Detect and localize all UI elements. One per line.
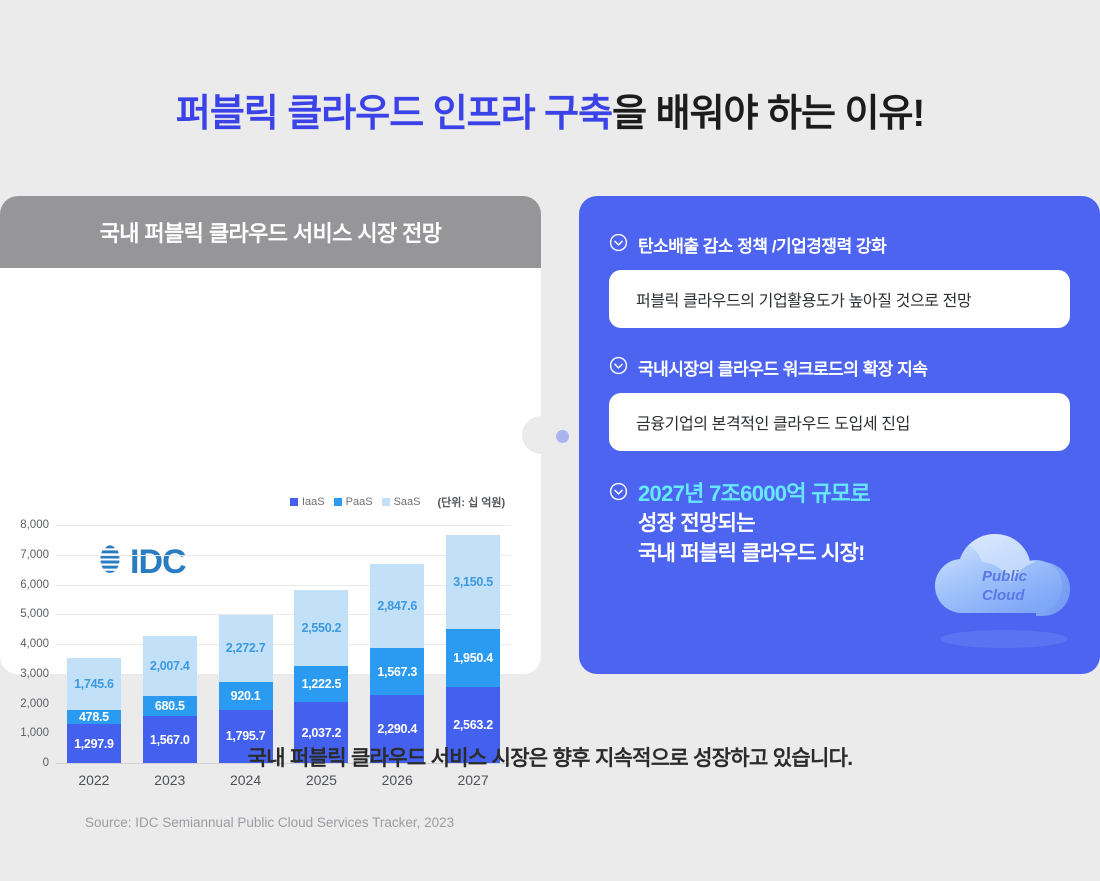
chart-y-tick-label: 4,000 <box>20 638 49 650</box>
highlight-box-1: 퍼블릭 클라우드의 기업활용도가 높아질 것으로 전망 <box>609 270 1070 328</box>
chart-card-inner: 국내 퍼블릭 클라우드 서비스 시장 전망 <box>0 196 541 674</box>
legend-label-paas: PaaS <box>346 496 373 508</box>
chart-bar-column: 2,272.7920.11,795.7 <box>219 615 273 674</box>
highlight-box-text-2: 금융기업의 본격적인 클라우드 도입세 진입 <box>636 410 910 434</box>
chart-bar-segment-saas: 3,150.5 <box>446 535 500 629</box>
legend-label-saas: SaaS <box>394 496 421 508</box>
chart-bar-column: 2,007.4680.51,567.0 <box>143 636 197 674</box>
chart-bar-segment-paas: 1,567.3 <box>370 648 424 674</box>
chart-bar-segment-saas: 2,847.6 <box>370 564 424 649</box>
chart-title: 국내 퍼블릭 클라우드 서비스 시장 전망 <box>100 216 442 248</box>
legend-label-iaas: IaaS <box>302 496 325 508</box>
chart-bar-segment-paas: 1,222.5 <box>294 666 348 674</box>
highlight-item-1: 탄소배출 감소 정책 /기업경쟁력 강화 퍼블릭 클라우드의 기업활용도가 높아… <box>609 232 1070 328</box>
chart-bar-segment-paas: 1,950.4 <box>446 629 500 674</box>
chart-card: 국내 퍼블릭 클라우드 서비스 시장 전망 <box>0 196 541 674</box>
highlight-heading-row-2: 국내시장의 클라우드 워크로드의 확장 지속 <box>609 355 1070 380</box>
legend-item-saas: SaaS <box>382 496 421 508</box>
highlight-heading-row-1: 탄소배출 감소 정책 /기업경쟁력 강화 <box>609 232 1070 257</box>
legend-swatch-iaas <box>290 498 298 506</box>
chart-legend: IaaS PaaS SaaS (단위: 십 억원) <box>290 494 505 510</box>
legend-swatch-saas <box>382 498 390 506</box>
page-title: 퍼블릭 클라우드 인프라 구축을 배워야 하는 이유! <box>0 92 1100 138</box>
check-circle-icon <box>609 356 628 380</box>
highlight-final-line-2: 성장 전망되는 <box>638 509 870 539</box>
chart-bar-segment-saas: 2,007.4 <box>143 636 197 674</box>
highlight-final-line-3: 국내 퍼블릭 클라우드 시장! <box>638 539 870 569</box>
highlight-final-line-1: 2027년 7조6000억 규모로 <box>638 478 870 509</box>
legend-item-iaas: IaaS <box>290 496 325 508</box>
public-cloud-graphic: Public Cloud <box>912 522 1092 652</box>
page-title-highlight: 퍼블릭 클라우드 인프라 구축 <box>176 93 612 135</box>
chart-unit-label: (단위: 십 억원) <box>437 494 505 510</box>
chart-bar-column: 2,550.21,222.52,037.2 <box>294 590 348 674</box>
cloud-label: Public Cloud <box>982 568 1027 606</box>
chart-plot-area: 01,0002,0003,0004,0005,0006,0007,0008,00… <box>56 525 511 674</box>
highlight-heading-1: 탄소배출 감소 정책 /기업경쟁력 강화 <box>638 232 886 257</box>
legend-swatch-paas <box>334 498 342 506</box>
chart-bar-segment-saas: 2,550.2 <box>294 590 348 666</box>
chart-bar-segment-saas: 1,745.6 <box>67 658 121 674</box>
highlights-panel: 탄소배출 감소 정책 /기업경쟁력 강화 퍼블릭 클라우드의 기업활용도가 높아… <box>579 196 1100 674</box>
highlight-item-2: 국내시장의 클라우드 워크로드의 확장 지속 금융기업의 본격적인 클라우드 도… <box>609 355 1070 451</box>
cloud-label-line-2: Cloud <box>982 587 1027 606</box>
check-circle-icon <box>609 482 628 506</box>
page-title-rest: 을 배워야 하는 이유! <box>612 93 924 135</box>
chart-y-tick-label: 7,000 <box>20 549 49 561</box>
chart-bars: 1,745.6478.51,297.92,007.4680.51,567.02,… <box>56 525 511 674</box>
chart-bar-column: 2,847.61,567.32,290.4 <box>370 564 424 674</box>
chart-bar-segment-saas: 2,272.7 <box>219 615 273 674</box>
chart-y-tick-label: 8,000 <box>20 519 49 531</box>
card-notch <box>522 416 560 454</box>
legend-item-paas: PaaS <box>334 496 373 508</box>
chart-y-tick-label: 5,000 <box>20 608 49 620</box>
chart-y-tick-label: 3,000 <box>20 668 49 674</box>
separator-dot <box>556 430 569 443</box>
highlight-box-text-1: 퍼블릭 클라우드의 기업활용도가 높아질 것으로 전망 <box>636 287 971 311</box>
chart-header: 국내 퍼블릭 클라우드 서비스 시장 전망 <box>0 196 541 268</box>
highlight-final-text: 2027년 7조6000억 규모로 성장 전망되는 국내 퍼블릭 클라우드 시장… <box>638 478 870 569</box>
highlight-box-2: 금융기업의 본격적인 클라우드 도입세 진입 <box>609 393 1070 451</box>
chart-bar-column: 1,745.6478.51,297.9 <box>67 658 121 674</box>
highlight-heading-2: 국내시장의 클라우드 워크로드의 확장 지속 <box>638 355 927 380</box>
bottom-caption: 국내 퍼블릭 클라우드 서비스 시장은 향후 지속적으로 성장하고 있습니다. <box>0 742 1100 772</box>
chart-bar-column: 3,150.51,950.42,563.2 <box>446 535 500 674</box>
infographic-page: 퍼블릭 클라우드 인프라 구축을 배워야 하는 이유! 국내 퍼블릭 클라우드 … <box>0 0 1100 881</box>
cloud-label-line-1: Public <box>982 568 1027 587</box>
check-circle-icon <box>609 233 628 257</box>
chart-y-tick-label: 6,000 <box>20 579 49 591</box>
